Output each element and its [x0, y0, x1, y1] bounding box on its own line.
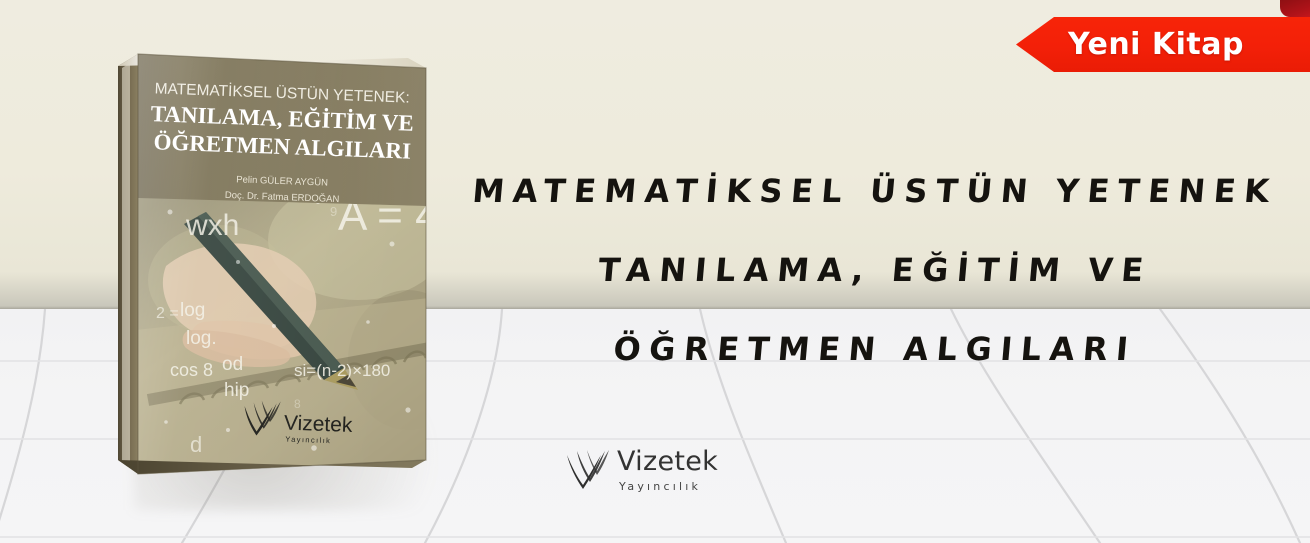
- book-mockup: wxh J A = 4 πr2 2 = log log. cos 8 od hi…: [108, 30, 438, 500]
- ribbon-label: Yeni Kitap: [1016, 17, 1310, 72]
- headline-line-2: TANILAMA, EĞİTİM VE: [437, 231, 1310, 310]
- book-cover-gloss: [138, 54, 426, 474]
- svg-text:sin(n-2)×180: sin(n-2)×180: [296, 475, 409, 497]
- svg-text:hin: hin: [188, 485, 217, 500]
- ribbon-fold: [1280, 0, 1310, 17]
- headline-line-1: MATEMATİKSEL ÜSTÜN YETENEK: [437, 152, 1310, 231]
- publisher-name: Vizetek: [617, 447, 718, 477]
- vizetek-wing-mark-icon: [565, 449, 611, 495]
- promo-banner: Yeni Kitap MATEMATİKSEL ÜSTÜN YETENEK TA…: [0, 0, 1310, 543]
- new-book-ribbon: Yeni Kitap: [1016, 0, 1310, 72]
- headline: MATEMATİKSEL ÜSTÜN YETENEK TANILAMA, EĞİ…: [440, 152, 1310, 389]
- publisher-tagline: Yayıncılık: [619, 480, 718, 493]
- headline-line-3: ÖĞRETMEN ALGILARI: [437, 310, 1310, 389]
- book-3d: wxh J A = 4 πr2 2 = log log. cos 8 od hi…: [108, 30, 438, 500]
- publisher-logo: Vizetek Yayıncılık: [565, 447, 725, 495]
